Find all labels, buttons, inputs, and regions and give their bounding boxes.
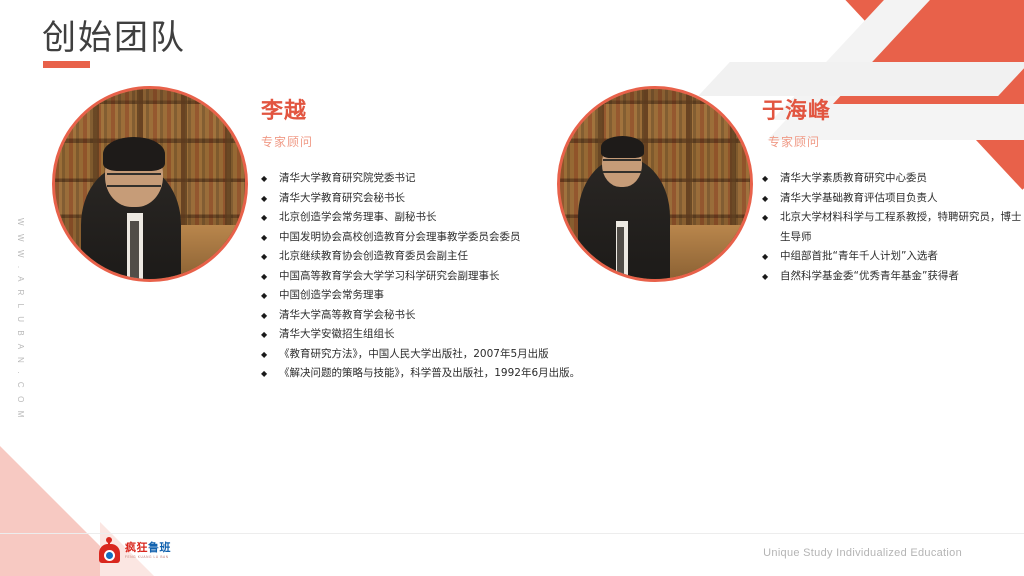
diamond-bullet-icon: ◆: [261, 286, 267, 306]
list-item-text: 中国创造学会常务理事: [279, 289, 384, 301]
robot-eye: [104, 550, 115, 561]
list-item: ◆清华大学高等教育学会秘书长: [261, 306, 581, 326]
list-item-text: 《教育研究方法》，中国人民大学出版社，2007年5月出版: [279, 348, 549, 360]
slide-canvas: 创始团队 W W W . A R L U B A N . C O M 李越 专家…: [0, 0, 1024, 576]
portrait-glasses: [107, 173, 161, 187]
list-item: ◆北京继续教育协会创造教育委员会副主任: [261, 247, 581, 267]
footer-divider: [0, 533, 1024, 534]
list-item-text: 北京创造学会常务理事、副秘书长: [279, 211, 437, 223]
list-item: ◆清华大学教育研究会秘书长: [261, 189, 581, 209]
list-item: ◆《解决问题的策略与技能》，科学普及出版社，1992年6月出版。: [261, 364, 581, 384]
list-item: ◆北京大学材料科学与工程系教授，特聘研究员，博士生导师: [762, 208, 1024, 247]
portrait-glasses: [603, 159, 641, 173]
vertical-website-url: W W W . A R L U B A N . C O M: [16, 218, 25, 421]
brand-name-cn: 疯狂鲁班: [125, 542, 171, 553]
brand-name-pinyin: FENG KUANG LU BAN: [125, 556, 171, 559]
portrait-tie: [617, 227, 624, 279]
diamond-bullet-icon: ◆: [261, 267, 267, 287]
list-item-text: 清华大学安徽招生组组长: [279, 328, 395, 340]
diamond-bullet-icon: ◆: [261, 364, 267, 384]
person-credentials-list-1: ◆清华大学教育研究院党委书记 ◆清华大学教育研究会秘书长 ◆北京创造学会常务理事…: [261, 169, 581, 384]
person-role-1: 专家顾问: [261, 133, 581, 150]
portrait-photo-1: [52, 86, 248, 282]
list-item: ◆《教育研究方法》，中国人民大学出版社，2007年5月出版: [261, 345, 581, 365]
person-name-2: 于海峰: [762, 100, 1024, 124]
diamond-bullet-icon: ◆: [261, 325, 267, 345]
portrait-desk: [666, 225, 750, 279]
list-item: ◆清华大学安徽招生组组长: [261, 325, 581, 345]
list-item: ◆清华大学素质教育研究中心委员: [762, 169, 1024, 189]
list-item-text: 自然科学基金委“优秀青年基金”获得者: [780, 270, 959, 282]
diamond-bullet-icon: ◆: [261, 189, 267, 209]
list-item: ◆中国创造学会常务理事: [261, 286, 581, 306]
person-details-2: 于海峰 专家顾问 ◆清华大学素质教育研究中心委员 ◆清华大学基础教育评估项目负责…: [762, 100, 1024, 286]
list-item: ◆中组部首批“青年千人计划”入选者: [762, 247, 1024, 267]
list-item: ◆清华大学基础教育评估项目负责人: [762, 189, 1024, 209]
diamond-bullet-icon: ◆: [261, 345, 267, 365]
list-item-text: 清华大学基础教育评估项目负责人: [780, 192, 938, 204]
list-item-text: 清华大学高等教育学会秘书长: [279, 309, 416, 321]
title-underline-rule: [43, 61, 90, 68]
list-item-text: 中国高等教育学会大学学习科学研究会副理事长: [279, 270, 500, 282]
portrait-photo-2: [557, 86, 753, 282]
portrait-tie: [130, 221, 139, 279]
diamond-bullet-icon: ◆: [762, 247, 768, 267]
brand-name-cn-red: 疯狂: [125, 541, 148, 554]
brand-logo-text: 疯狂鲁班 FENG KUANG LU BAN: [125, 542, 171, 559]
page-title: 创始团队: [42, 10, 186, 59]
person-details-1: 李越 专家顾问 ◆清华大学教育研究院党委书记 ◆清华大学教育研究会秘书长 ◆北京…: [261, 100, 581, 384]
brand-logo: 疯狂鲁班 FENG KUANG LU BAN: [99, 539, 171, 563]
list-item-text: 《解决问题的策略与技能》，科学普及出版社，1992年6月出版。: [279, 367, 580, 379]
person-name-1: 李越: [261, 100, 581, 124]
diamond-bullet-icon: ◆: [762, 267, 768, 287]
list-item-text: 中组部首批“青年千人计划”入选者: [780, 250, 938, 262]
diamond-bullet-icon: ◆: [762, 189, 768, 209]
footer-tagline: Unique Study Individualized Education: [763, 547, 962, 559]
portrait-hair: [601, 136, 644, 158]
diamond-bullet-icon: ◆: [762, 208, 768, 228]
diamond-bullet-icon: ◆: [261, 208, 267, 228]
diamond-bullet-icon: ◆: [261, 247, 267, 267]
diamond-bullet-icon: ◆: [762, 169, 768, 189]
list-item: ◆中国发明协会高校创造教育分会理事教学委员会委员: [261, 228, 581, 248]
list-item: ◆自然科学基金委“优秀青年基金”获得者: [762, 267, 1024, 287]
person-role-2: 专家顾问: [768, 133, 1024, 150]
list-item: ◆中国高等教育学会大学学习科学研究会副理事长: [261, 267, 581, 287]
list-item-text: 北京大学材料科学与工程系教授，特聘研究员，博士生导师: [780, 211, 1022, 243]
list-item-text: 中国发明协会高校创造教育分会理事教学委员会委员: [279, 231, 521, 243]
list-item: ◆清华大学教育研究院党委书记: [261, 169, 581, 189]
list-item: ◆北京创造学会常务理事、副秘书长: [261, 208, 581, 228]
robot-logo-icon: [99, 539, 120, 563]
diamond-bullet-icon: ◆: [261, 228, 267, 248]
list-item-text: 北京继续教育协会创造教育委员会副主任: [279, 250, 468, 262]
brand-name-cn-blue: 鲁班: [148, 541, 171, 554]
diamond-bullet-icon: ◆: [261, 169, 267, 189]
portrait-hair: [103, 137, 165, 171]
person-credentials-list-2: ◆清华大学素质教育研究中心委员 ◆清华大学基础教育评估项目负责人 ◆北京大学材料…: [762, 169, 1024, 286]
list-item-text: 清华大学教育研究院党委书记: [279, 172, 416, 184]
diamond-bullet-icon: ◆: [261, 306, 267, 326]
list-item-text: 清华大学素质教育研究中心委员: [780, 172, 927, 184]
list-item-text: 清华大学教育研究会秘书长: [279, 192, 405, 204]
